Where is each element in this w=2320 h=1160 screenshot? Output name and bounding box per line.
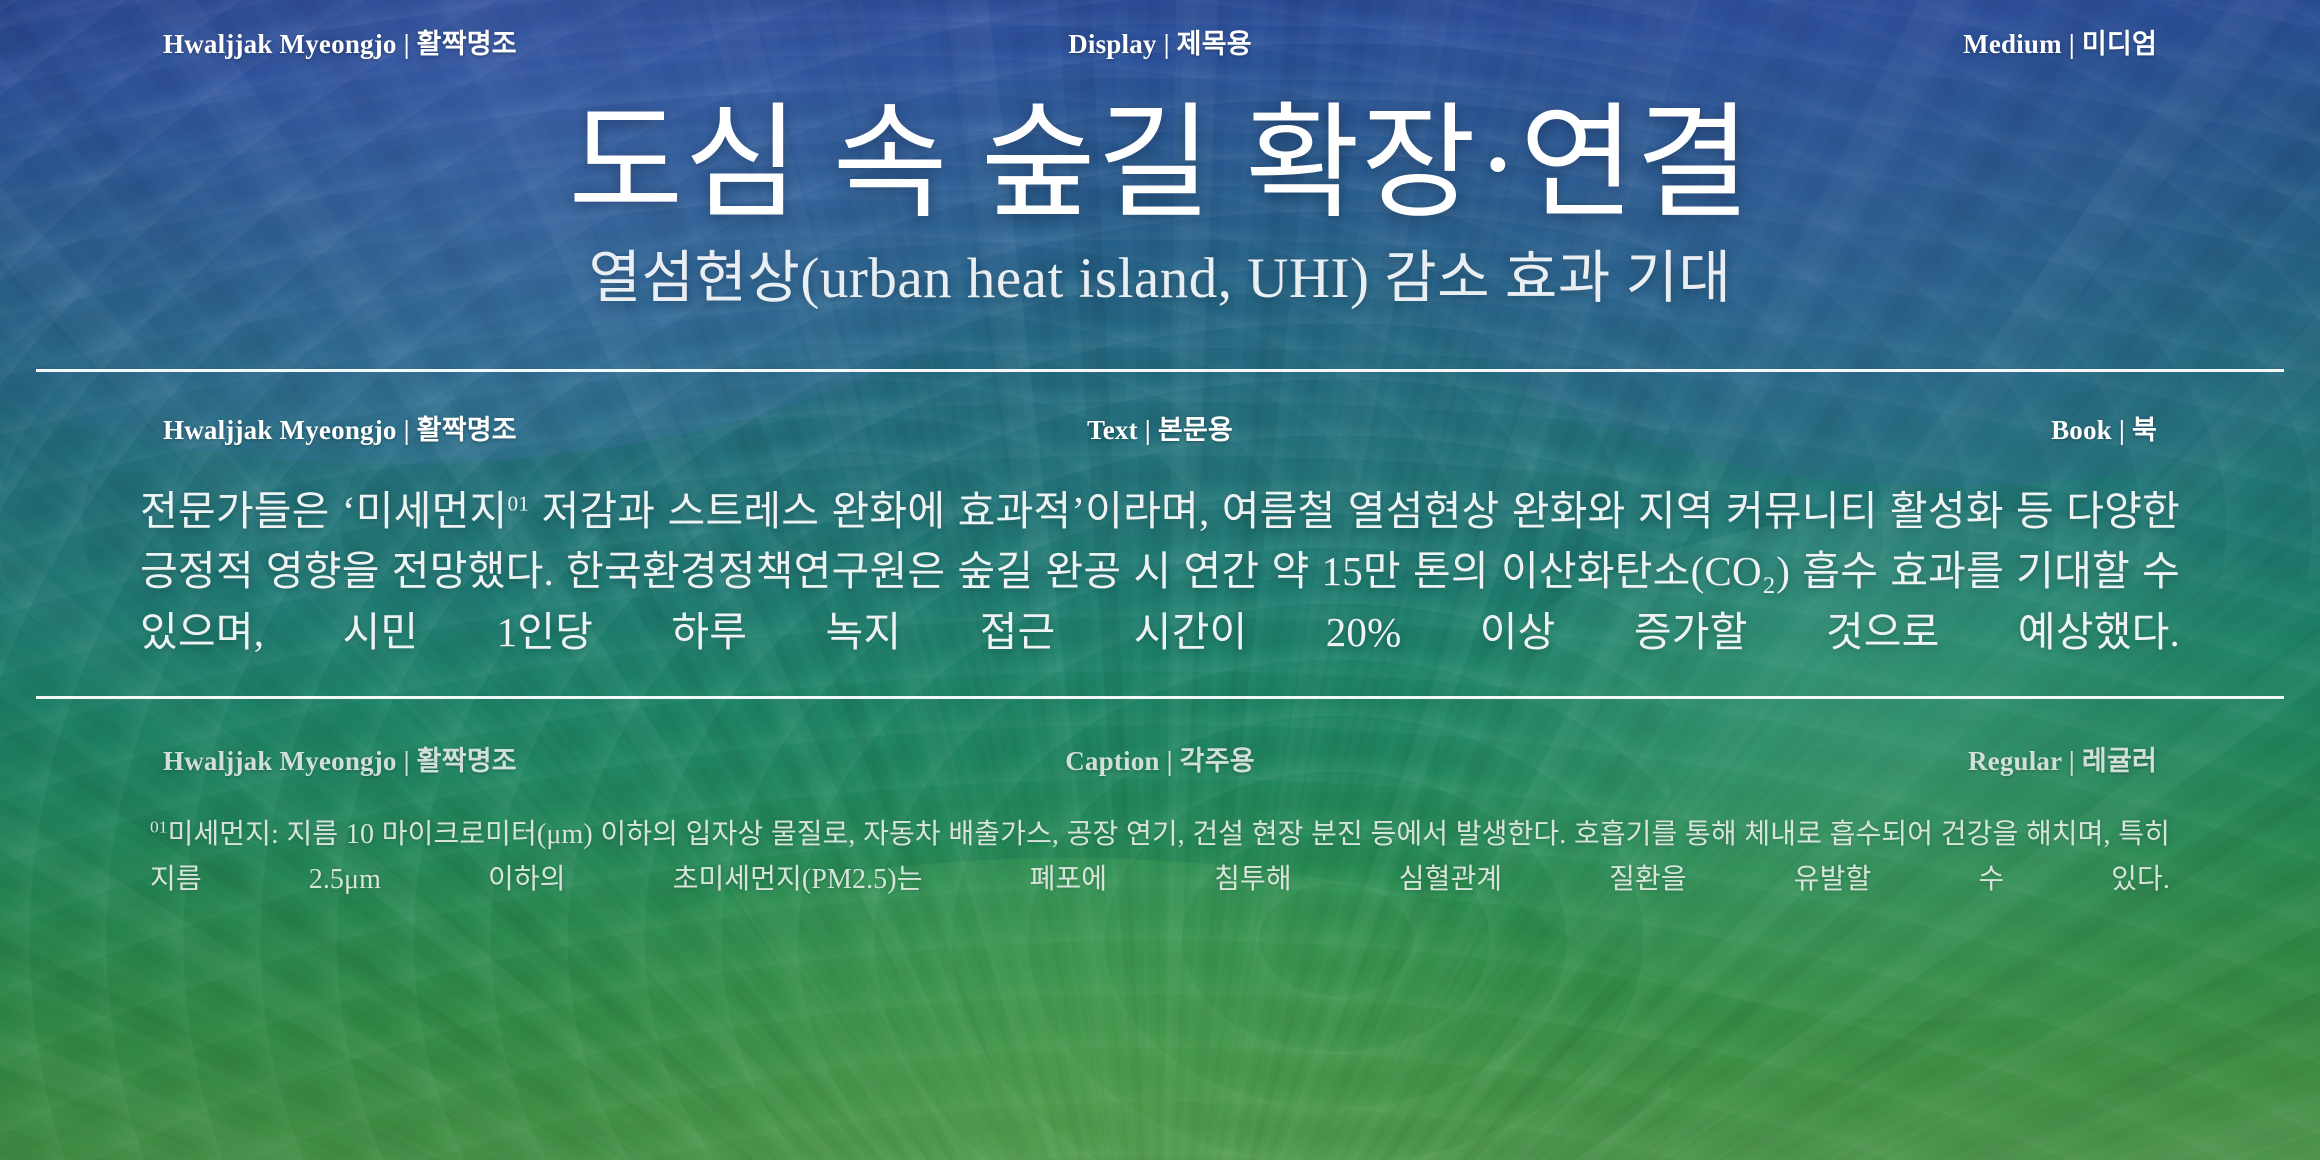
section-caption: Hwaljjak Myeongjo | 활짝명조 Caption | 각주용 R… bbox=[0, 699, 2320, 903]
body-text-before-footnote: 전문가들은 ‘미세먼지 bbox=[140, 488, 507, 534]
footnote-body-text: 미세먼지: 지름 10 마이크로미터(μm) 이하의 입자상 물질로, 자동차 … bbox=[150, 819, 2170, 895]
text-typeface-label: Hwaljjak Myeongjo | 활짝명조 bbox=[0, 408, 800, 447]
display-weight-label: Medium | 미디엄 bbox=[1520, 22, 2320, 61]
caption-typeface-label: Hwaljjak Myeongjo | 활짝명조 bbox=[0, 739, 800, 778]
caption-usage-label: Caption | 각주용 bbox=[800, 739, 1519, 778]
footnote-reference-marker: 01 bbox=[507, 491, 529, 515]
specimen-content: Hwaljjak Myeongjo | 활짝명조 Display | 제목용 M… bbox=[0, 0, 2320, 1160]
display-typeface-label: Hwaljjak Myeongjo | 활짝명조 bbox=[0, 22, 800, 61]
text-usage-label: Text | 본문용 bbox=[800, 408, 1519, 447]
footnote-paragraph: 01미세먼지: 지름 10 마이크로미터(μm) 이하의 입자상 물질로, 자동… bbox=[150, 812, 2170, 903]
footnote-number: 01 bbox=[150, 818, 168, 837]
display-meta-row: Hwaljjak Myeongjo | 활짝명조 Display | 제목용 M… bbox=[0, 22, 2320, 61]
section-text: Hwaljjak Myeongjo | 활짝명조 Text | 본문용 Book… bbox=[0, 372, 2320, 662]
specimen-poster: Hwaljjak Myeongjo | 활짝명조 Display | 제목용 M… bbox=[0, 0, 2320, 1160]
page-title: 도심 속 숲길 확장·연결 bbox=[0, 99, 2320, 232]
body-paragraph: 전문가들은 ‘미세먼지01 저감과 스트레스 완화에 효과적’이라며, 여름철 … bbox=[140, 481, 2180, 662]
caption-weight-label: Regular | 레귤러 bbox=[1520, 739, 2320, 778]
caption-meta-row: Hwaljjak Myeongjo | 활짝명조 Caption | 각주용 R… bbox=[0, 739, 2320, 778]
text-meta-row: Hwaljjak Myeongjo | 활짝명조 Text | 본문용 Book… bbox=[0, 408, 2320, 447]
page-subtitle: 열섬현상(urban heat island, UHI) 감소 효과 기대 bbox=[0, 244, 2320, 314]
section-display: Hwaljjak Myeongjo | 활짝명조 Display | 제목용 M… bbox=[0, 0, 2320, 313]
display-usage-label: Display | 제목용 bbox=[800, 22, 1519, 61]
text-weight-label: Book | 북 bbox=[1520, 408, 2320, 447]
